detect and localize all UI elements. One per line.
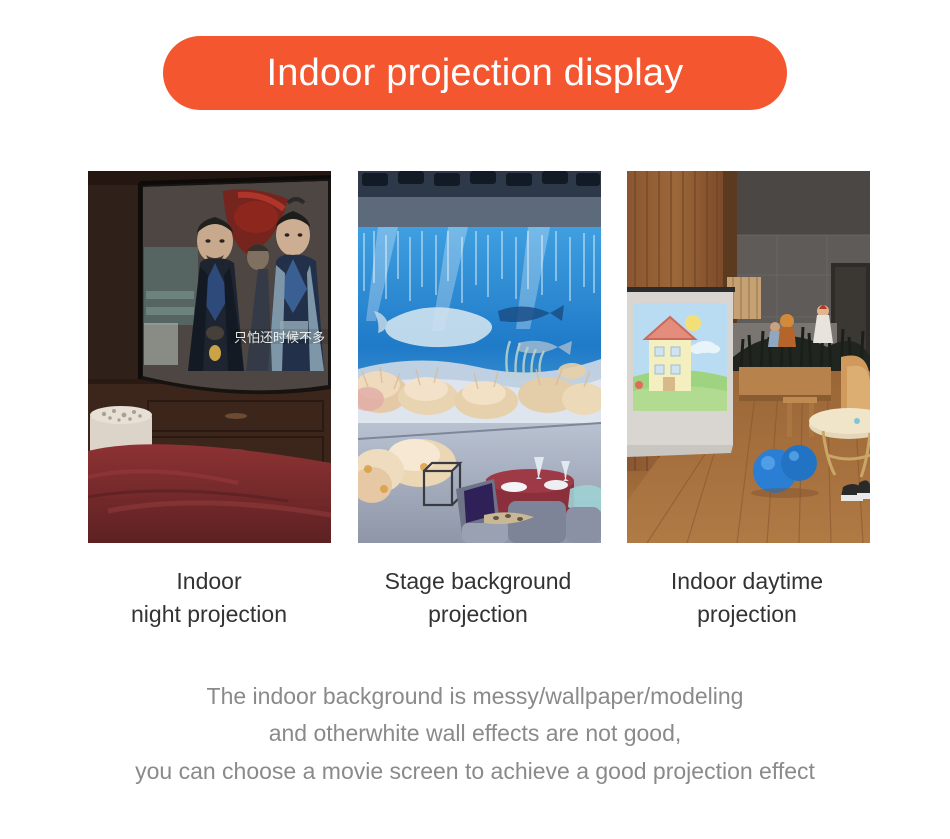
indoor-daytime-scene-illustration bbox=[627, 171, 870, 543]
indoor-night-scene-illustration: 只怕还时候不多 bbox=[88, 171, 331, 543]
caption-line-1: Stage background bbox=[347, 565, 609, 598]
caption-line-2: projection bbox=[347, 598, 609, 631]
caption-line-2: night projection bbox=[84, 598, 334, 631]
footer-line-1: The indoor background is messy/wallpaper… bbox=[0, 678, 950, 715]
gallery-row: 只怕还时候不多 bbox=[88, 171, 870, 543]
screen-subtitle-text: 只怕还时候不多 bbox=[230, 329, 330, 346]
gallery-image-indoor-night-projection[interactable]: 只怕还时候不多 bbox=[88, 171, 331, 543]
caption-indoor-daytime-projection: Indoor daytime projection bbox=[622, 565, 872, 630]
gallery-image-stage-background-projection[interactable] bbox=[358, 171, 601, 543]
caption-indoor-night-projection: Indoor night projection bbox=[84, 565, 334, 630]
svg-text:只怕还时候不多: 只怕还时候不多 bbox=[234, 330, 325, 346]
footer-description: The indoor background is messy/wallpaper… bbox=[0, 678, 950, 790]
footer-line-2: and otherwhite wall effects are not good… bbox=[0, 715, 950, 752]
title-pill: Indoor projection display bbox=[163, 36, 787, 110]
gallery-image-indoor-daytime-projection[interactable] bbox=[627, 171, 870, 543]
caption-line-1: Indoor bbox=[84, 565, 334, 598]
caption-stage-background-projection: Stage background projection bbox=[347, 565, 609, 630]
page-title: Indoor projection display bbox=[267, 54, 684, 92]
caption-row: Indoor night projection Stage background… bbox=[88, 565, 870, 630]
footer-line-3: you can choose a movie screen to achieve… bbox=[0, 753, 950, 790]
stage-background-scene-illustration bbox=[358, 171, 601, 543]
title-banner: Indoor projection display bbox=[0, 36, 950, 110]
caption-line-1: Indoor daytime bbox=[622, 565, 872, 598]
caption-line-2: projection bbox=[622, 598, 872, 631]
